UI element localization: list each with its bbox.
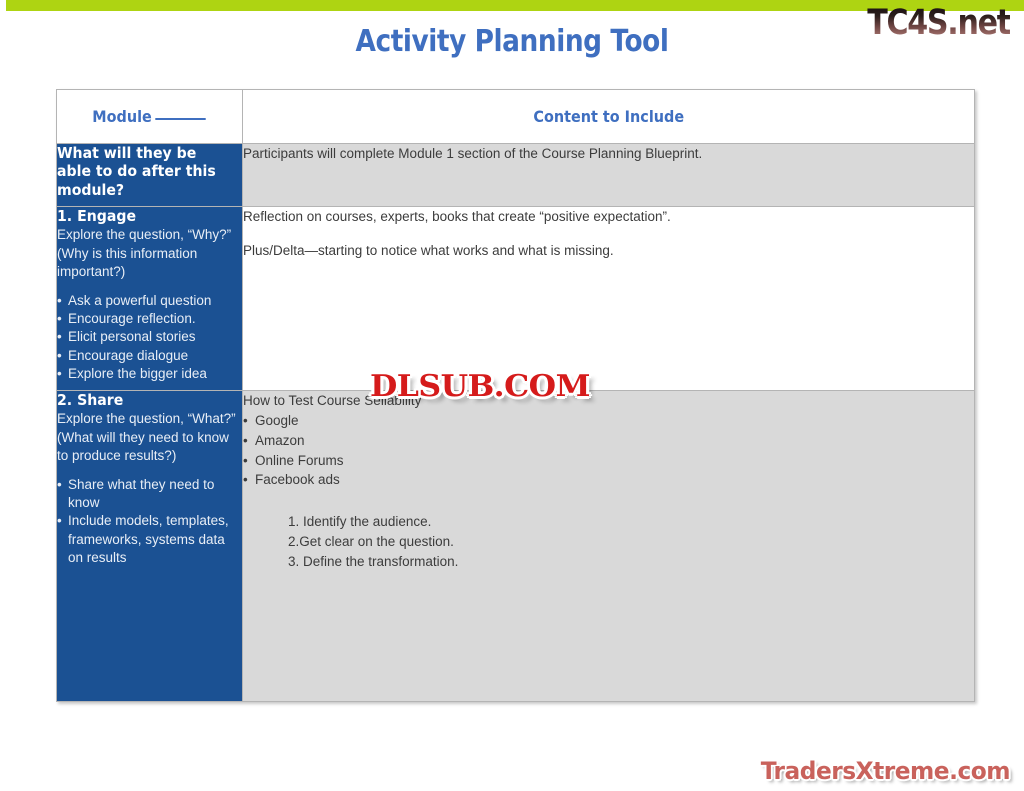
- content-list-heading: How to Test Course Sellability: [243, 391, 974, 411]
- content-list-share: Google Amazon Online Forums Facebook ads: [243, 411, 974, 491]
- content-cell-engage: Reflection on courses, experts, books th…: [243, 207, 975, 391]
- table-row-share: 2. Share Explore the question, “What?” (…: [57, 391, 975, 702]
- column-header-content-label: Content to Include: [533, 107, 684, 126]
- column-header-module: Module: [57, 90, 243, 144]
- content-paragraph: Plus/Delta—starting to notice what works…: [243, 241, 974, 261]
- column-header-content: Content to Include: [243, 90, 975, 144]
- module-title-engage: 1. Engage: [57, 207, 231, 225]
- list-item: Ask a powerful question: [57, 292, 242, 310]
- table-row-objective: What will they be able to do after this …: [57, 144, 975, 207]
- list-item: Elicit personal stories: [57, 328, 242, 346]
- module-bullets-share: Share what they need to know Include mod…: [57, 476, 242, 567]
- table-row-engage: 1. Engage Explore the question, “Why?” (…: [57, 207, 975, 391]
- module-cell-share: 2. Share Explore the question, “What?” (…: [57, 391, 243, 702]
- list-item: 2.Get clear on the question.: [288, 532, 974, 552]
- list-item: Facebook ads: [243, 470, 974, 490]
- list-item: Share what they need to know: [57, 476, 242, 512]
- watermark-tradersxtreme: TradersXtreme.com: [761, 757, 1010, 785]
- module-bullets-engage: Ask a powerful question Encourage reflec…: [57, 292, 242, 383]
- column-header-module-label: Module: [93, 107, 152, 126]
- list-item: Google: [243, 411, 974, 431]
- module-blank-line: [156, 118, 206, 120]
- module-subtitle-share: Explore the question, “What?” (What will…: [57, 410, 242, 465]
- page-title: Activity Planning Tool: [61, 25, 962, 58]
- list-item: Explore the bigger idea: [57, 365, 242, 383]
- list-item: Amazon: [243, 431, 974, 451]
- list-item: Encourage dialogue: [57, 347, 242, 365]
- module-cell-engage: 1. Engage Explore the question, “Why?” (…: [57, 207, 243, 391]
- module-title-share: 2. Share: [57, 391, 231, 409]
- content-paragraph: Participants will complete Module 1 sect…: [243, 144, 974, 164]
- list-item: 1. Identify the audience.: [288, 512, 974, 532]
- list-item: 3. Define the transformation.: [288, 552, 974, 572]
- module-cell-objective: What will they be able to do after this …: [57, 144, 243, 207]
- content-numbered-list-share: 1. Identify the audience. 2.Get clear on…: [288, 512, 974, 572]
- table-header-row: Module Content to Include: [57, 90, 975, 144]
- list-item: Online Forums: [243, 451, 974, 471]
- list-item: Encourage reflection.: [57, 310, 242, 328]
- module-subtitle-engage: Explore the question, “Why?” (Why is thi…: [57, 226, 242, 281]
- content-cell-share: How to Test Course Sellability Google Am…: [243, 391, 975, 702]
- content-cell-objective: Participants will complete Module 1 sect…: [243, 144, 975, 207]
- content-paragraph: Reflection on courses, experts, books th…: [243, 207, 974, 227]
- module-title-objective: What will they be able to do after this …: [57, 144, 231, 199]
- list-item: Include models, templates, frameworks, s…: [57, 512, 242, 567]
- watermark-dlsub: DLSUB.COM: [370, 369, 590, 404]
